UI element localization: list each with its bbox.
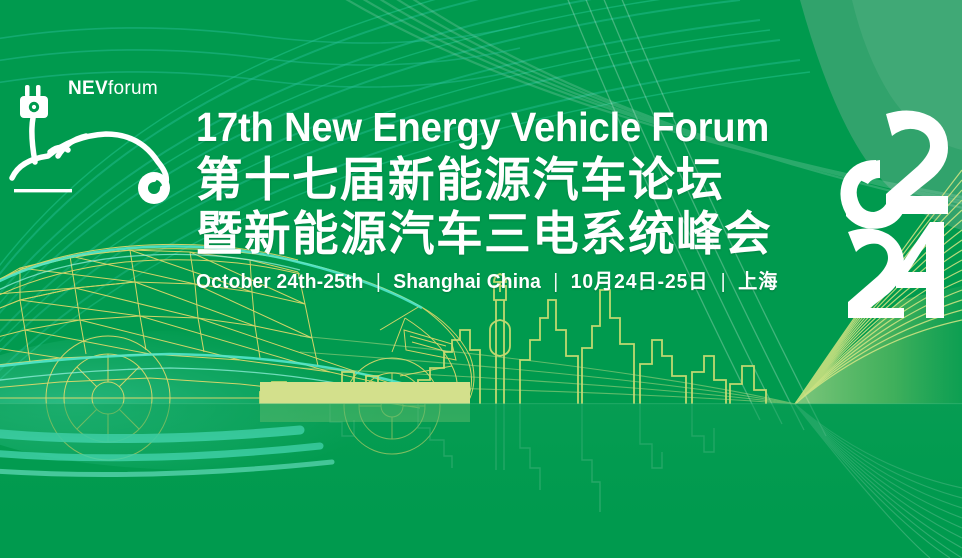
- year-2024-graphic: [838, 104, 960, 322]
- logo-wordmark: NEVforum: [68, 78, 158, 100]
- title-english: 17th New Energy Vehicle Forum: [196, 104, 801, 150]
- separator-3: |: [714, 271, 733, 293]
- event-location-english: Shanghai China: [393, 271, 541, 293]
- logo-wordmark-light: forum: [108, 78, 158, 99]
- event-date-chinese: 10月24日-25日: [571, 271, 709, 293]
- title-chinese-line1: 第十七届新能源汽车论坛: [196, 152, 840, 208]
- logo-wordmark-bold: NEV: [68, 78, 108, 99]
- event-date-english: October 24th-25th: [196, 271, 364, 293]
- banner-text-block: 17th New Energy Vehicle Forum 第十七届新能源汽车论…: [196, 104, 846, 294]
- separator-2: |: [547, 271, 566, 293]
- event-location-chinese: 上海: [738, 271, 778, 293]
- event-details-line: October 24th-25th | Shanghai China | 10月…: [196, 270, 820, 294]
- separator-1: |: [369, 271, 388, 293]
- title-chinese-line2: 暨新能源汽车三电系统峰会: [196, 206, 840, 262]
- event-banner: NEVforum 17th New Energy Vehicle Forum 第…: [0, 0, 962, 558]
